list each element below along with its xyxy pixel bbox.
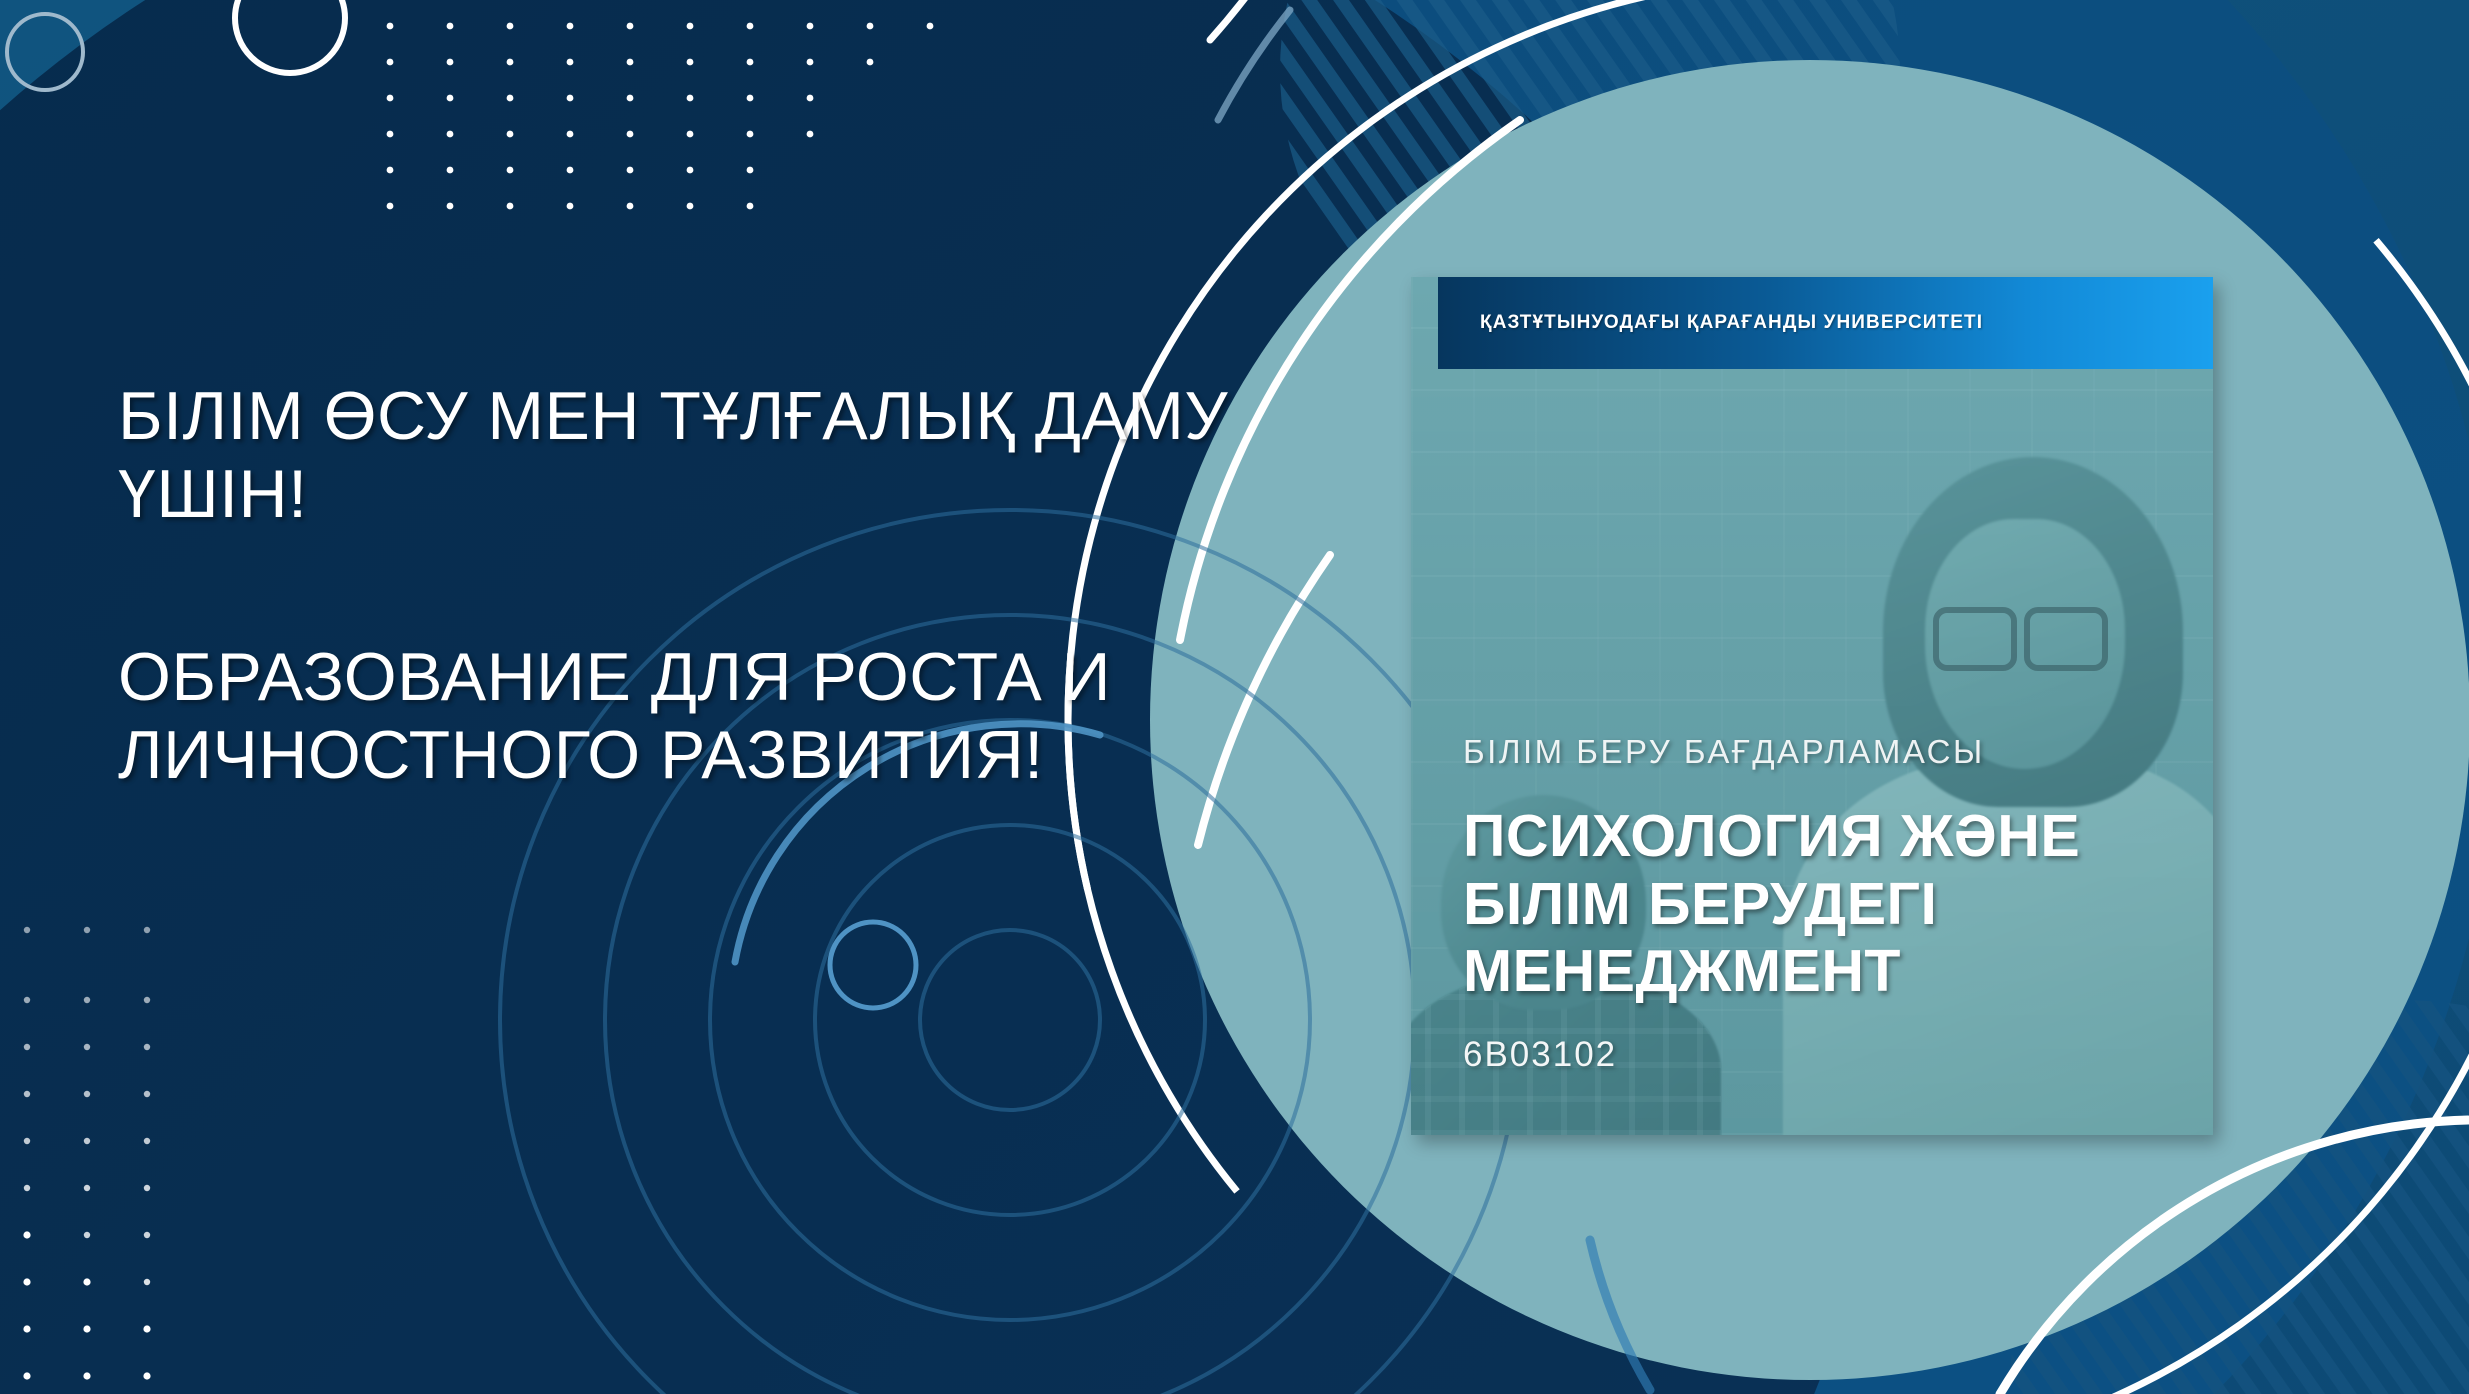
poster-copy: БІЛІМ БЕРУ БАҒДАРЛАМАСЫ ПСИХОЛОГИЯ ЖӘНЕ … <box>1463 733 2183 1075</box>
slide-canvas: БІЛІМ ӨСУ МЕН ТҰЛҒАЛЫҚ ДАМУ ҮШІН! ОБРАЗО… <box>0 0 2469 1394</box>
program-title: ПСИХОЛОГИЯ ЖӘНЕ БІЛІМ БЕРУДЕГІ МЕНЕДЖМЕН… <box>1463 803 2183 1005</box>
university-name: ҚАЗТҰТЫНУОДАҒЫ ҚАРАҒАНДЫ УНИВЕРСИТЕТІ <box>1438 312 1983 334</box>
headline-block: БІЛІМ ӨСУ МЕН ТҰЛҒАЛЫҚ ДАМУ ҮШІН! ОБРАЗО… <box>118 378 1258 794</box>
headline-kazakh: БІЛІМ ӨСУ МЕН ТҰЛҒАЛЫҚ ДАМУ ҮШІН! <box>118 378 1258 533</box>
program-kicker: БІЛІМ БЕРУ БАҒДАРЛАМАСЫ <box>1463 733 2183 771</box>
program-poster-card[interactable]: ҚАЗТҰТЫНУОДАҒЫ ҚАРАҒАНДЫ УНИВЕРСИТЕТІ БІ… <box>1411 277 2213 1135</box>
university-banner: ҚАЗТҰТЫНУОДАҒЫ ҚАРАҒАНДЫ УНИВЕРСИТЕТІ <box>1438 277 2213 369</box>
program-code: 6B03102 <box>1463 1035 2183 1075</box>
headline-russian: ОБРАЗОВАНИЕ ДЛЯ РОСТА И ЛИЧНОСТНОГО РАЗВ… <box>118 639 1258 794</box>
